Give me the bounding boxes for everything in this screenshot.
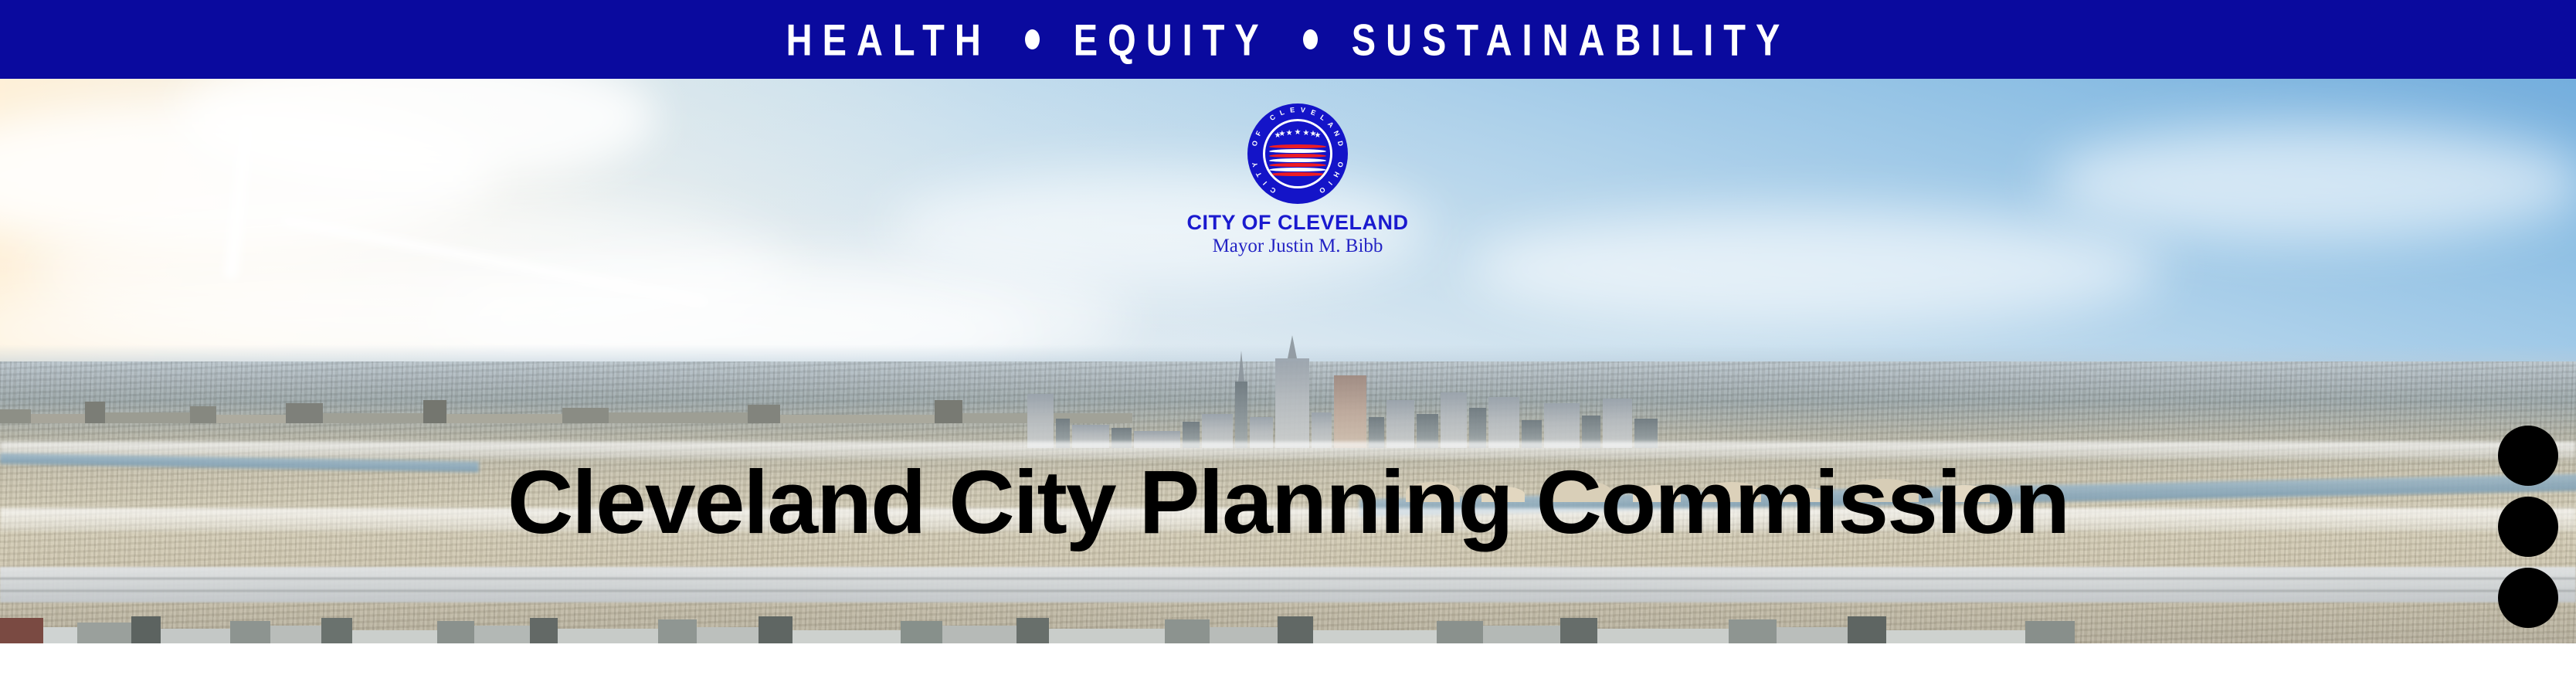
seal-star: ★	[1278, 131, 1285, 138]
city-of-cleveland-seal: CITY OF CLEVELAND OHIO ★★★★★★★	[1247, 103, 1348, 204]
building	[1027, 394, 1054, 448]
instagram-icon[interactable]	[2498, 497, 2558, 557]
tagline-inner: HEALTH EQUITY SUSTAINABILITY	[786, 22, 1790, 58]
tagline-separator-dot-1	[1025, 29, 1040, 49]
seal-inner-disc: ★★★★★★★	[1261, 117, 1335, 191]
tagline-word-sustainability: SUSTAINABILITY	[1352, 17, 1790, 61]
interstate-highway	[0, 567, 2576, 602]
seal-face: ★★★★★★★	[1265, 121, 1330, 186]
building	[1386, 400, 1414, 448]
hero-photo: CITY OF CLEVELAND OHIO ★★★★★★★	[0, 79, 2576, 643]
page-root: HEALTH EQUITY SUSTAINABILITY	[0, 0, 2576, 682]
cloud-shape	[1468, 210, 2163, 326]
facebook-icon[interactable]	[2498, 568, 2558, 628]
seal-star: ★	[1302, 130, 1309, 137]
spire	[1288, 335, 1297, 358]
tagline-separator-dot-2	[1303, 29, 1318, 49]
waving-flag-graphic	[1269, 144, 1326, 181]
spire	[1238, 351, 1244, 382]
downtown-skyline	[1027, 332, 1614, 448]
tagline-word-equity: EQUITY	[1074, 17, 1269, 61]
cloud-shape	[2047, 125, 2576, 241]
seal-star: ★	[1294, 129, 1301, 137]
city-brand-block: CITY OF CLEVELAND OHIO ★★★★★★★	[1159, 103, 1437, 257]
building	[1441, 392, 1467, 448]
tagline-word-health: HEALTH	[786, 17, 991, 61]
seal-star: ★	[1314, 132, 1321, 140]
tagline-banner: HEALTH EQUITY SUSTAINABILITY	[0, 0, 2576, 79]
youtube-icon[interactable]	[2498, 426, 2558, 486]
brand-mayor-name: Mayor Justin M. Bibb	[1159, 236, 1437, 256]
foreground-rooftop-row	[0, 613, 2576, 643]
page-title: Cleveland City Planning Commission	[0, 457, 2576, 547]
200-public-square	[1334, 375, 1366, 448]
building	[1603, 399, 1632, 448]
brand-city-name: CITY OF CLEVELAND	[1159, 212, 1437, 233]
social-links	[2497, 426, 2559, 628]
building	[1488, 397, 1519, 448]
seal-star: ★	[1286, 130, 1293, 137]
key-tower	[1275, 358, 1309, 448]
terminal-tower	[1235, 382, 1247, 448]
